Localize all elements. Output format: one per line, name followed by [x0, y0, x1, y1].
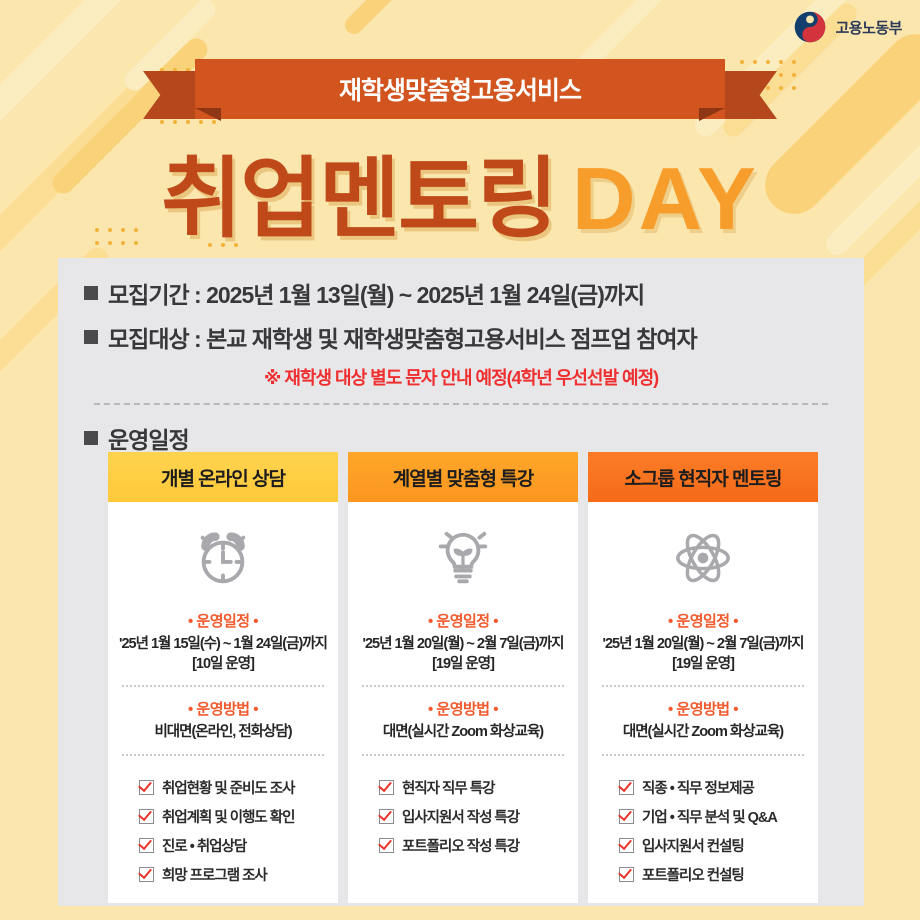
stripe [341, 0, 439, 38]
lightbulb-icon [348, 502, 578, 604]
schedule-value: '25년 1월 20일(월) ~ 2월 7일(금)까지[19일 운영] [588, 635, 818, 674]
card-item-list: 취업현황 및 준비도 조사 취업계획 및 이행도 확인 진로 • 취업상담 희망… [108, 767, 338, 903]
checkbox-icon [379, 809, 394, 824]
list-item-label: 포트폴리오 작성 특강 [402, 835, 519, 856]
list-item: 희망 프로그램 조사 [139, 864, 307, 885]
divider [122, 685, 324, 687]
alarm-clock-icon [108, 502, 338, 604]
recruit-target-text: 모집대상 : 본교 재학생 및 재학생맞춤형고용서비스 점프업 참여자 [108, 320, 697, 354]
checkbox-icon [619, 867, 634, 882]
recruit-period-row: 모집기간 : 2025년 1월 13일(월) ~ 2025년 1월 24일(금)… [84, 276, 838, 310]
card-header: 개별 온라인 상담 [108, 452, 338, 502]
divider [94, 403, 828, 405]
poster-canvas: 고용노동부 재학생맞춤형고용서비스 취업멘토링DAY 모집기간 : 2025년 … [0, 0, 920, 920]
list-item: 직종 • 직무 정보제공 [619, 777, 787, 798]
bullet-square-icon [84, 330, 98, 344]
list-item-label: 직종 • 직무 정보제공 [642, 777, 754, 798]
list-item-label: 취업계획 및 이행도 확인 [162, 806, 295, 827]
list-item-label: 포트폴리오 컨설팅 [642, 864, 744, 885]
title-korean: 취업멘토링 [161, 149, 556, 248]
list-item: 입사지원서 작성 특강 [379, 806, 547, 827]
schedule-label: • 운영일정 • [348, 610, 578, 631]
divider [122, 754, 324, 756]
taegeuk-icon [793, 10, 827, 44]
method-value: 비대면(온라인, 전화상담) [108, 723, 338, 743]
card-header: 소그룹 현직자 멘토링 [588, 452, 818, 502]
divider [602, 754, 804, 756]
method-label: • 운영방법 • [348, 698, 578, 719]
list-item: 입사지원서 컨설팅 [619, 835, 787, 856]
list-item: 기업 • 직무 분석 및 Q&A [619, 806, 787, 827]
bullet-square-icon [84, 286, 98, 300]
recruit-note: ※ 재학생 대상 별도 문자 안내 예정(4학년 우선선발 예정) [84, 364, 838, 390]
list-item-label: 희망 프로그램 조사 [162, 864, 267, 885]
list-item: 포트폴리오 컨설팅 [619, 864, 787, 885]
title-english: DAY [572, 149, 759, 248]
card-item-list: 현직자 직무 특강 입사지원서 작성 특강 포트폴리오 작성 특강 [348, 767, 578, 874]
list-item: 취업현황 및 준비도 조사 [139, 777, 307, 798]
divider [362, 685, 564, 687]
ribbon-band: 재학생맞춤형고용서비스 [195, 59, 725, 119]
schedule-label: • 운영일정 • [108, 610, 338, 631]
divider [362, 754, 564, 756]
method-value: 대면(실시간 Zoom 화상교육) [348, 723, 578, 743]
list-item-label: 진로 • 취업상담 [162, 835, 246, 856]
checkbox-icon [139, 867, 154, 882]
ribbon-text: 재학생맞춤형고용서비스 [339, 71, 581, 107]
list-item-label: 입사지원서 컨설팅 [642, 835, 744, 856]
list-item: 진로 • 취업상담 [139, 835, 307, 856]
card-header: 계열별 맞춤형 특강 [348, 452, 578, 502]
ministry-logo: 고용노동부 [793, 10, 902, 44]
schedule-label: • 운영일정 • [588, 610, 818, 631]
ministry-name: 고용노동부 [835, 17, 902, 38]
checkbox-icon [619, 780, 634, 795]
card-item-list: 직종 • 직무 정보제공 기업 • 직무 분석 및 Q&A 입사지원서 컨설팅 … [588, 767, 818, 903]
recruit-target-row: 모집대상 : 본교 재학생 및 재학생맞춤형고용서비스 점프업 참여자 [84, 320, 838, 354]
page-title: 취업멘토링DAY [0, 128, 920, 255]
program-card-1[interactable]: 개별 온라인 상담 • 운영일정 • '25년 1월 15일(수) ~ 1월 2… [108, 452, 338, 903]
bullet-square-icon [84, 431, 98, 445]
method-label: • 운영방법 • [588, 698, 818, 719]
program-cards: 개별 온라인 상담 • 운영일정 • '25년 1월 15일(수) ~ 1월 2… [108, 452, 818, 903]
checkbox-icon [139, 838, 154, 853]
ribbon-banner: 재학생맞춤형고용서비스 [195, 59, 725, 119]
info-block: 모집기간 : 2025년 1월 13일(월) ~ 2025년 1월 24일(금)… [58, 258, 864, 455]
method-label: • 운영방법 • [108, 698, 338, 719]
list-item-label: 입사지원서 작성 특강 [402, 806, 519, 827]
schedule-value: '25년 1월 20일(월) ~ 2월 7일(금)까지[19일 운영] [348, 635, 578, 674]
program-card-2[interactable]: 계열별 맞춤형 특강 • 운영일정 • '25년 1월 20일(월) ~ 2월 … [348, 452, 578, 903]
checkbox-icon [139, 780, 154, 795]
schedule-heading-row: 운영일정 [84, 421, 838, 455]
method-value: 대면(실시간 Zoom 화상교육) [588, 723, 818, 743]
checkbox-icon [379, 780, 394, 795]
checkbox-icon [139, 809, 154, 824]
program-card-3[interactable]: 소그룹 현직자 멘토링 • 운영일정 • '25년 1월 20일(월) ~ 2월… [588, 452, 818, 903]
list-item-label: 현직자 직무 특강 [402, 777, 494, 798]
schedule-value: '25년 1월 15일(수) ~ 1월 24일(금)까지[10일 운영] [108, 635, 338, 674]
list-item: 취업계획 및 이행도 확인 [139, 806, 307, 827]
list-item: 포트폴리오 작성 특강 [379, 835, 547, 856]
recruit-period-text: 모집기간 : 2025년 1월 13일(월) ~ 2025년 1월 24일(금)… [108, 276, 644, 310]
checkbox-icon [619, 838, 634, 853]
list-item-label: 기업 • 직무 분석 및 Q&A [642, 806, 777, 827]
checkbox-icon [379, 838, 394, 853]
schedule-heading-text: 운영일정 [108, 421, 189, 455]
atom-icon [588, 502, 818, 604]
checkbox-icon [619, 809, 634, 824]
divider [602, 685, 804, 687]
list-item-label: 취업현황 및 준비도 조사 [162, 777, 295, 798]
list-item: 현직자 직무 특강 [379, 777, 547, 798]
